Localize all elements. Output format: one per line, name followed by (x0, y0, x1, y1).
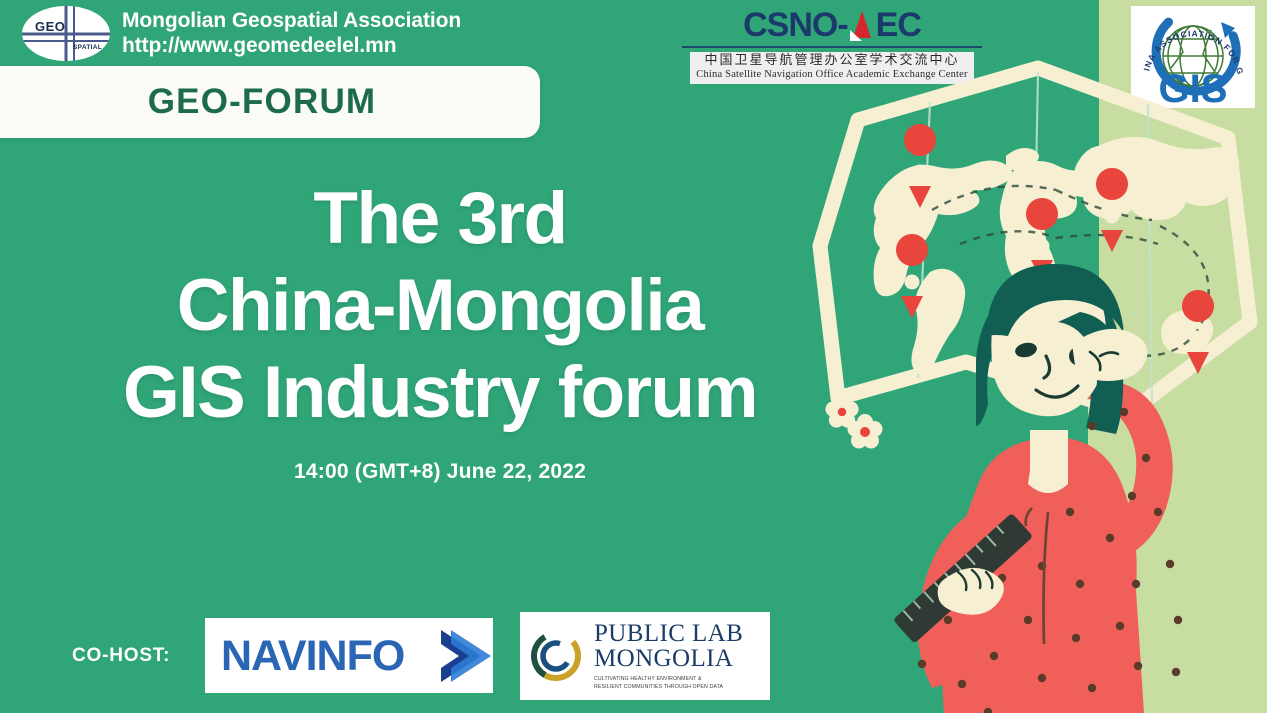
chevron-right-icon (441, 630, 491, 682)
title-line-2: China-Mongolia (0, 263, 880, 350)
red-arrow-icon (849, 11, 875, 41)
mongolian-geospatial-association-block: GEO SPATIAL Mongolian Geospatial Associa… (22, 6, 461, 61)
cohost-label: CO-HOST: (72, 645, 170, 667)
csno-wordmark: CSNO - EC (743, 6, 921, 45)
title-line-3: GIS Industry forum (0, 350, 880, 437)
association-name: Mongolian Geospatial Association (122, 9, 461, 34)
geo-spatial-logo: GEO SPATIAL (22, 6, 110, 61)
csno-wordmark-right: EC (876, 6, 921, 45)
plm-tagline: CULTIVATING HEALTHY ENVIRONMENT & RESILI… (594, 676, 743, 692)
navinfo-logo: NAVINFO (205, 618, 493, 693)
public-lab-mongolia-text: PUBLIC LAB MONGOLIA CULTIVATING HEALTHY … (594, 621, 743, 692)
circular-arcs-icon (526, 626, 586, 686)
association-text: Mongolian Geospatial Association http://… (122, 9, 461, 59)
logo-text-spatial: SPATIAL (73, 44, 102, 51)
title-line-1: The 3rd (0, 176, 880, 263)
logo-text-geo: GEO (35, 19, 65, 34)
csno-wordmark-dash: - (837, 6, 847, 45)
event-poster: GEO SPATIAL Mongolian Geospatial Associa… (0, 0, 1267, 713)
public-lab-mongolia-logo: PUBLIC LAB MONGOLIA CULTIVATING HEALTHY … (520, 612, 770, 700)
map-and-person-illustration (780, 60, 1267, 713)
main-title: The 3rd China-Mongolia GIS Industry foru… (0, 176, 880, 437)
plm-tagline-line-1: CULTIVATING HEALTHY ENVIRONMENT & (594, 676, 743, 684)
association-url[interactable]: http://www.geomedeelel.mn (122, 34, 461, 59)
logo-horizontal-line-2 (22, 40, 110, 42)
plm-line-1: PUBLIC LAB (594, 621, 743, 646)
csno-wordmark-left: CSNO (743, 6, 837, 45)
plm-line-2: MONGOLIA (594, 646, 743, 671)
csno-rule (682, 46, 982, 48)
event-datetime: 14:00 (GMT+8) June 22, 2022 (0, 460, 880, 484)
geo-forum-badge-label: GEO-FORUM (148, 82, 377, 122)
plm-tagline-line-2: RESILIENT COMMUNITIES THROUGH OPEN DATA (594, 684, 743, 692)
geo-forum-badge: GEO-FORUM (0, 66, 540, 138)
navinfo-wordmark: NAVINFO (221, 632, 404, 680)
